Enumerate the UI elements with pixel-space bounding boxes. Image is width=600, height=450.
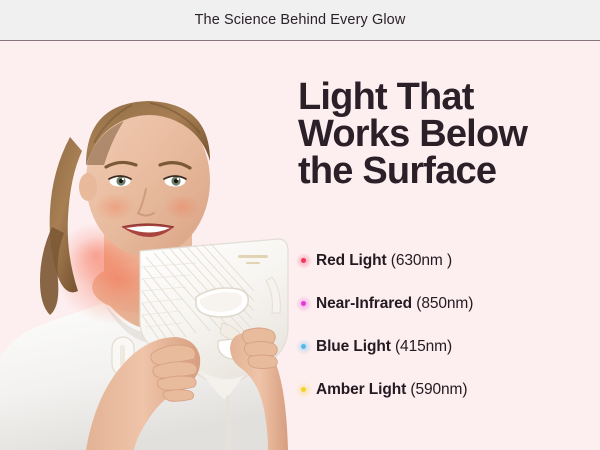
list-item: Blue Light (415nm) bbox=[296, 325, 600, 368]
list-item: Amber Light (590nm) bbox=[296, 368, 600, 411]
headline: Light That Works Below the Surface bbox=[298, 79, 590, 190]
wavelength-text: Near-Infrared (850nm) bbox=[316, 295, 473, 313]
headline-line-3: the Surface bbox=[298, 153, 590, 190]
header-bar: The Science Behind Every Glow bbox=[0, 0, 600, 41]
wavelength-value: (850nm) bbox=[416, 295, 473, 312]
wavelength-name: Blue Light bbox=[316, 338, 391, 355]
wavelength-name: Amber Light bbox=[316, 381, 406, 398]
wavelength-value: (590nm) bbox=[410, 381, 467, 398]
near-infrared-dot bbox=[301, 301, 306, 306]
red-light-dot bbox=[301, 258, 306, 263]
content-stage: Light That Works Below the Surface Red L… bbox=[0, 41, 600, 450]
wavelength-value: (630nm ) bbox=[391, 252, 452, 269]
wavelength-list: Red Light (630nm ) Near-Infrared (850nm)… bbox=[296, 239, 600, 411]
list-item: Red Light (630nm ) bbox=[296, 239, 600, 282]
wavelength-value: (415nm) bbox=[395, 338, 452, 355]
wavelength-name: Near-Infrared bbox=[316, 295, 412, 312]
wavelength-name: Red Light bbox=[316, 252, 387, 269]
headline-line-2: Works Below bbox=[298, 116, 590, 153]
wavelength-text: Blue Light (415nm) bbox=[316, 338, 452, 356]
amber-light-dot bbox=[301, 387, 306, 392]
copy-column: Light That Works Below the Surface Red L… bbox=[296, 41, 600, 450]
wavelength-text: Amber Light (590nm) bbox=[316, 381, 467, 399]
list-item: Near-Infrared (850nm) bbox=[296, 282, 600, 325]
header-title: The Science Behind Every Glow bbox=[195, 12, 406, 28]
product-photo bbox=[0, 41, 296, 450]
wavelength-text: Red Light (630nm ) bbox=[316, 252, 452, 270]
promo-banner: The Science Behind Every Glow bbox=[0, 0, 600, 450]
woman-holding-led-mask-illustration bbox=[0, 41, 296, 450]
blue-light-dot bbox=[301, 344, 306, 349]
headline-line-1: Light That bbox=[298, 79, 590, 116]
